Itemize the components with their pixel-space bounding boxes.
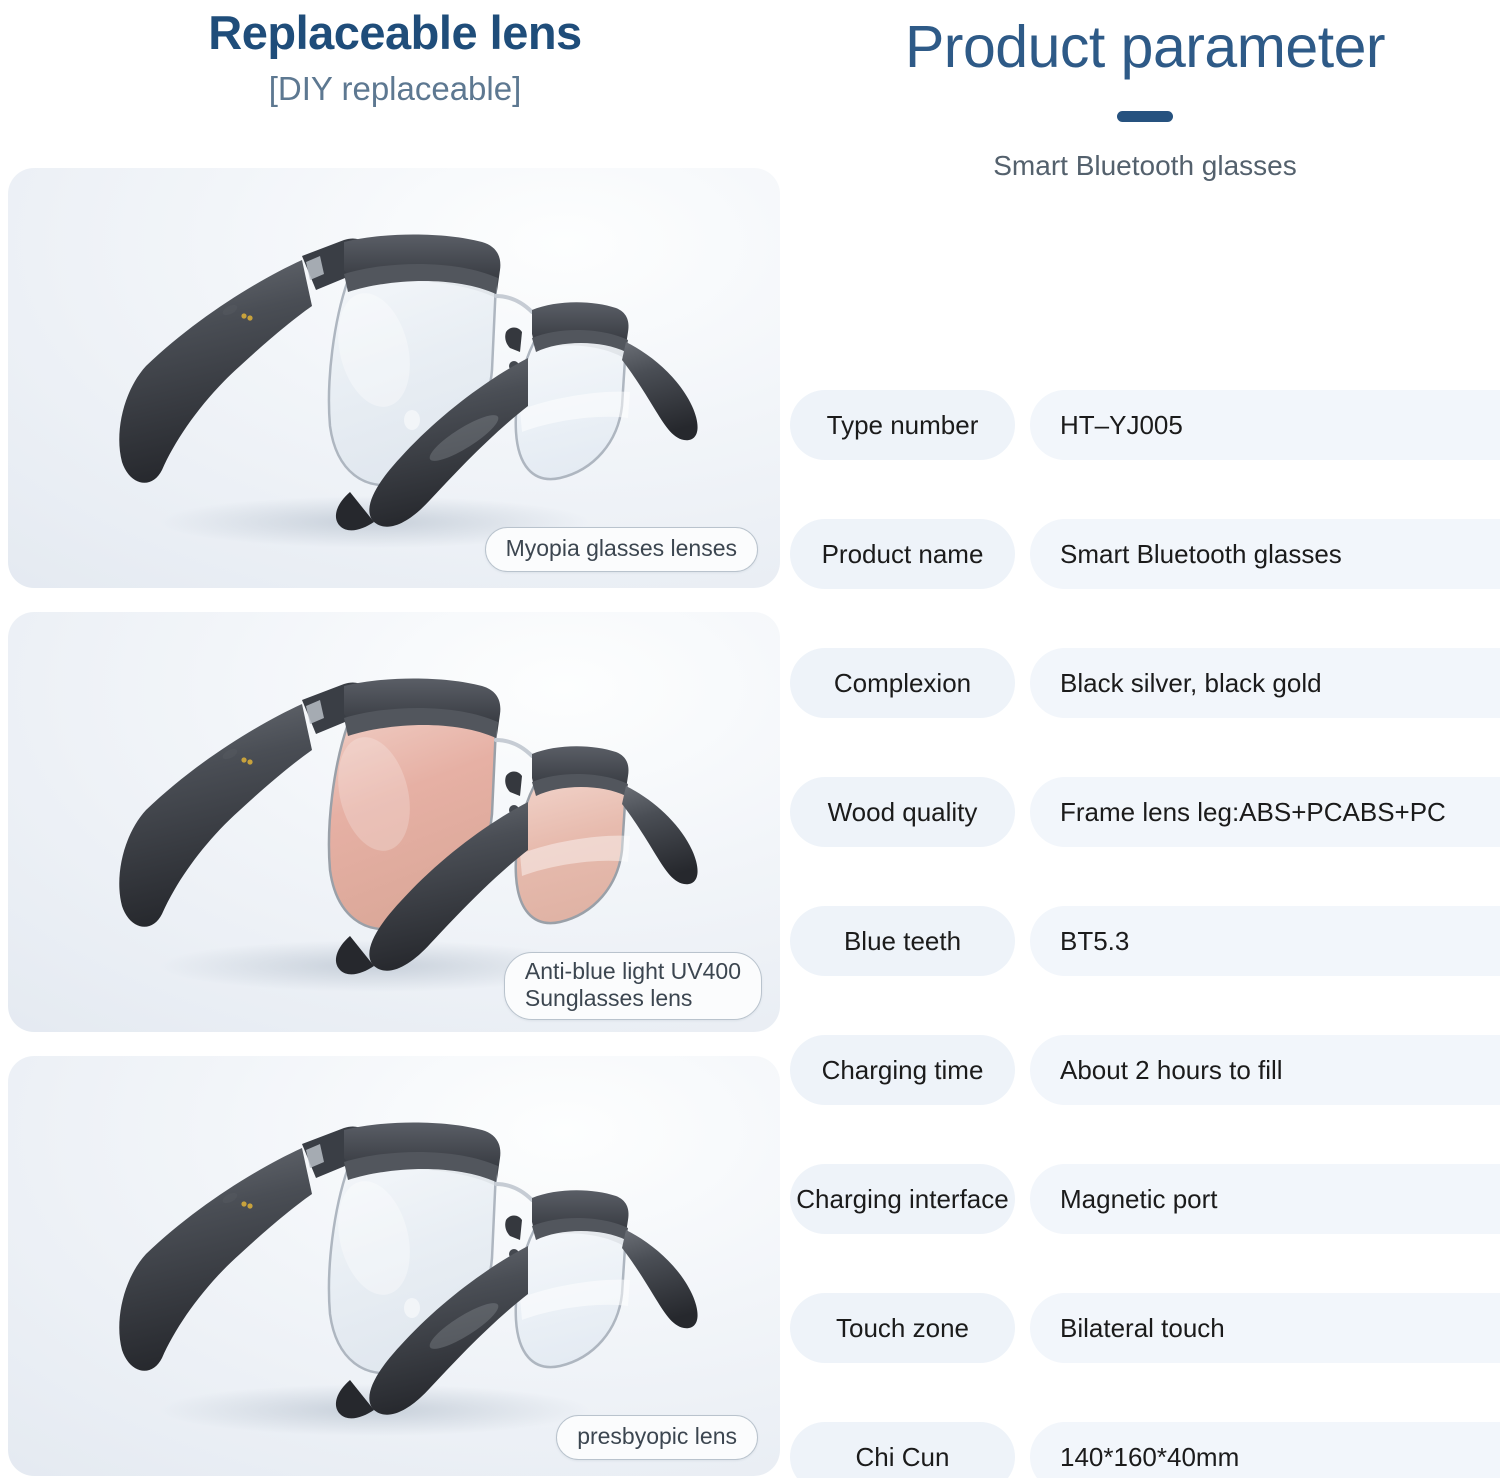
- table-row: Charging interface Magnetic port: [790, 1164, 1500, 1234]
- spec-value: About 2 hours to fill: [1030, 1035, 1500, 1105]
- photo-caption-1: Myopia glasses lenses: [485, 527, 758, 572]
- spec-label: Complexion: [790, 648, 1015, 718]
- product-spec-page: Replaceable lens [DIY replaceable]: [0, 0, 1500, 1478]
- photo-caption-3: presbyopic lens: [556, 1415, 758, 1460]
- spec-value: BT5.3: [1030, 906, 1500, 976]
- spec-value: Black silver, black gold: [1030, 648, 1500, 718]
- photo-caption-2: Anti-blue light UV400 Sunglasses lens: [504, 952, 762, 1020]
- table-row: Chi Cun 140*160*40mm: [790, 1422, 1500, 1478]
- spec-value: Frame lens leg:ABS+PCABS+PC: [1030, 777, 1500, 847]
- spec-table: Type number HT–YJ005 Product name Smart …: [790, 390, 1500, 1478]
- spec-label: Type number: [790, 390, 1015, 460]
- glasses-illustration-clear-1: [44, 170, 744, 570]
- table-row: Complexion Black silver, black gold: [790, 648, 1500, 718]
- left-section-subtitle: [DIY replaceable]: [0, 67, 790, 112]
- accent-dash-divider: [1117, 111, 1173, 122]
- left-section-title: Replaceable lens: [0, 4, 790, 61]
- product-photo-card-3: presbyopic lens: [8, 1056, 780, 1476]
- glasses-illustration-clear-3: [44, 1058, 744, 1458]
- right-section-subtitle: Smart Bluetooth glasses: [790, 148, 1500, 184]
- spec-label: Touch zone: [790, 1293, 1015, 1363]
- spec-label: Product name: [790, 519, 1015, 589]
- table-row: Touch zone Bilateral touch: [790, 1293, 1500, 1363]
- product-photo-card-2: Anti-blue light UV400 Sunglasses lens: [8, 612, 780, 1032]
- spec-label: Chi Cun: [790, 1422, 1015, 1478]
- spec-value: Magnetic port: [1030, 1164, 1500, 1234]
- table-row: Product name Smart Bluetooth glasses: [790, 519, 1500, 589]
- product-parameter-section: Product parameter Smart Bluetooth glasse…: [790, 0, 1500, 1478]
- spec-value: HT–YJ005: [1030, 390, 1500, 460]
- table-row: Blue teeth BT5.3: [790, 906, 1500, 976]
- table-row: Type number HT–YJ005: [790, 390, 1500, 460]
- page-title: Product parameter: [790, 14, 1500, 80]
- table-row: Charging time About 2 hours to fill: [790, 1035, 1500, 1105]
- spec-label: Charging time: [790, 1035, 1015, 1105]
- spec-label: Blue teeth: [790, 906, 1015, 976]
- right-heading-block: Product parameter Smart Bluetooth glasse…: [790, 0, 1500, 184]
- replaceable-lens-section: Replaceable lens [DIY replaceable]: [0, 0, 790, 1478]
- spec-label: Charging interface: [790, 1164, 1015, 1234]
- spec-value: 140*160*40mm: [1030, 1422, 1500, 1478]
- left-heading-block: Replaceable lens [DIY replaceable]: [0, 0, 790, 112]
- spec-label: Wood quality: [790, 777, 1015, 847]
- product-photo-card-1: Myopia glasses lenses: [8, 168, 780, 588]
- spec-value: Smart Bluetooth glasses: [1030, 519, 1500, 589]
- spec-value: Bilateral touch: [1030, 1293, 1500, 1363]
- table-row: Wood quality Frame lens leg:ABS+PCABS+PC: [790, 777, 1500, 847]
